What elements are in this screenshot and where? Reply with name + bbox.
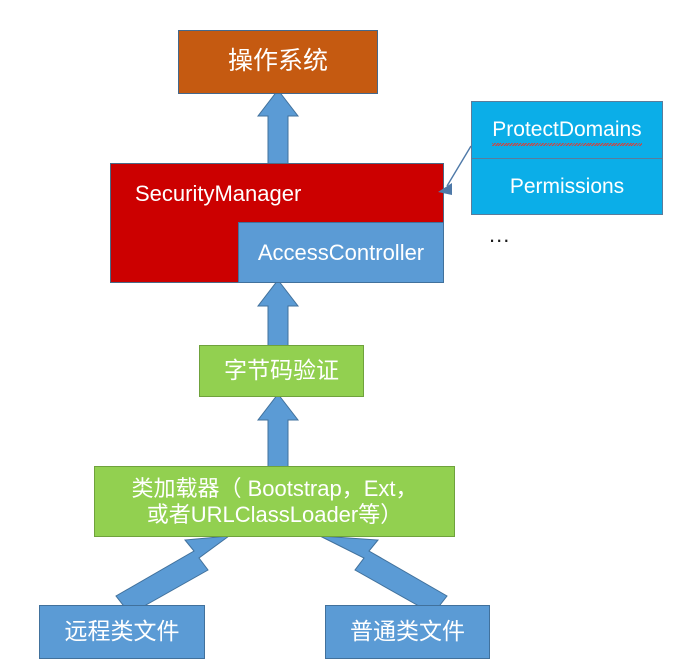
diagram-canvas: 操作系统 SecurityManager AccessController Pr… <box>0 0 684 671</box>
connector-arrowhead-icon <box>438 183 452 195</box>
connector-domainstack-to-securitymanager <box>447 146 471 186</box>
connector-layer <box>0 0 684 671</box>
